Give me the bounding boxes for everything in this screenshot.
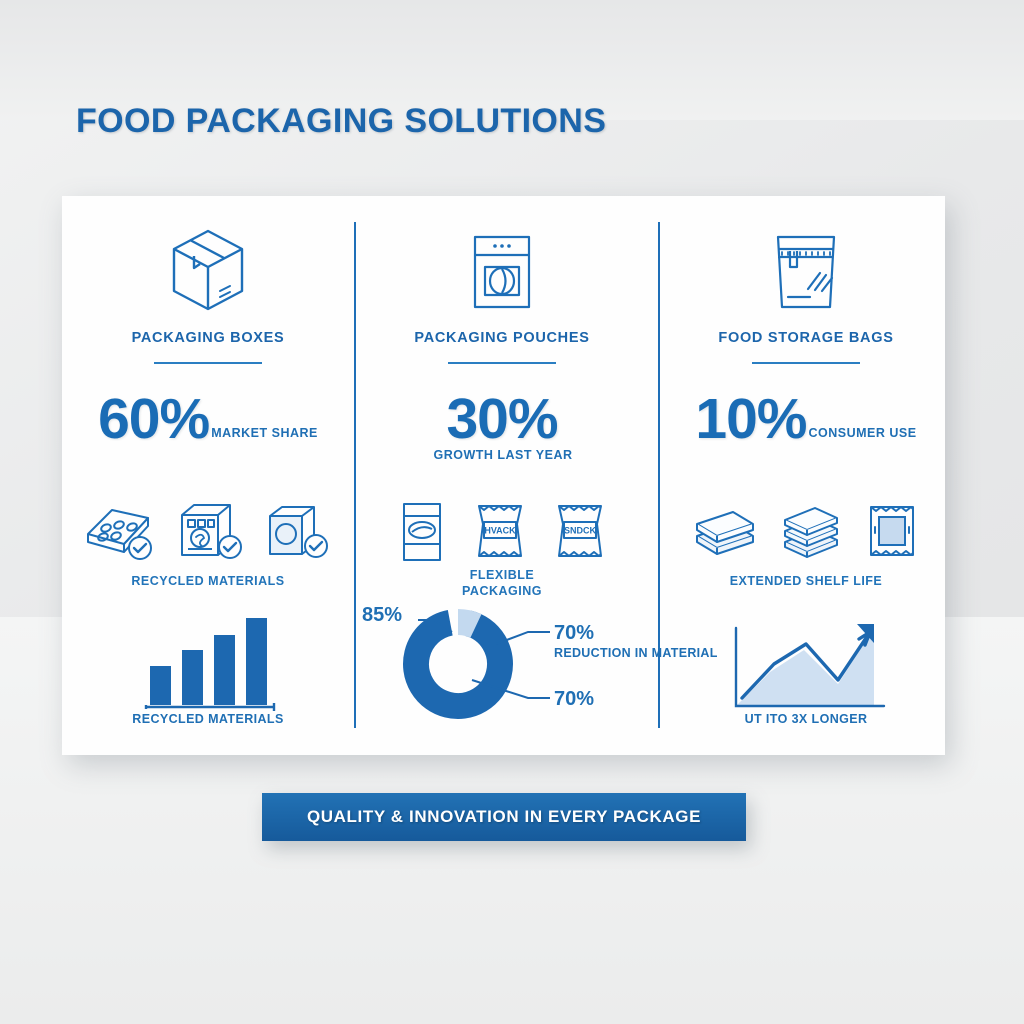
zip-storage-bag-icon: [660, 222, 952, 318]
coffee-pouch-icon: [356, 222, 648, 318]
stat-bags: 10% CONSUMER USE: [660, 392, 952, 446]
stat-boxes: 60% MARKET SHARE: [62, 392, 354, 446]
feature-icons-boxes: [62, 492, 354, 570]
infographic-card: PACKAGING BOXES 60% MARKET SHARE: [62, 196, 945, 755]
cardboard-box-icon: [62, 222, 354, 318]
feature-label-pouches: FLEXIBLEPACKAGING: [356, 568, 648, 599]
line-chart-bags: UT ITO 3X LONGER: [660, 610, 952, 728]
egg-carton-icon: [82, 500, 158, 562]
page-title: FOOD PACKAGING SOLUTIONS: [76, 102, 606, 141]
donut-label-left: 85%: [362, 604, 402, 627]
snack-bag-sndck-icon: SNDCK: [550, 498, 610, 564]
column-heading-pouches: PACKAGING POUCHES: [356, 330, 648, 346]
column-packaging-pouches: PACKAGING POUCHES 30% GROWTH LAST YEAR: [356, 196, 648, 755]
footer-banner: QUALITY & INNOVATION IN EVERY PACKAGE: [262, 793, 746, 841]
coffee-bag-icon: [394, 498, 450, 564]
column-heading-boxes: PACKAGING BOXES: [62, 330, 354, 346]
bar-chart-boxes: RECYCLED MATERIALS: [62, 610, 354, 728]
bar-chart-caption: RECYCLED MATERIALS: [62, 712, 354, 726]
snack-bag-label: HVACK: [484, 526, 516, 536]
column-heading-rule: [154, 362, 262, 364]
stat-caption-boxes: MARKET SHARE: [209, 426, 318, 446]
stat-number-boxes: 60%: [98, 392, 209, 446]
donut-label-right-percent: 70%: [554, 622, 594, 645]
column-food-storage-bags: FOOD STORAGE BAGS 10% CONSUMER USE: [660, 196, 952, 755]
cereal-box-icon: [174, 499, 246, 563]
feature-label-bags: EXTENDED SHELF LIFE: [660, 574, 952, 590]
vacuum-pack-icon: [863, 499, 921, 563]
stat-caption-pouches: GROWTH LAST YEAR: [431, 446, 572, 462]
food-carton-icon: [262, 500, 334, 562]
column-heading-rule: [448, 362, 556, 364]
column-heading-bags: FOOD STORAGE BAGS: [660, 330, 952, 346]
footer-banner-text: QUALITY & INNOVATION IN EVERY PACKAGE: [307, 807, 701, 827]
feature-icons-bags: [660, 492, 952, 570]
feature-label-boxes: RECYCLED MATERIALS: [62, 574, 354, 590]
snack-bag-hvack-icon: HVACK: [470, 498, 530, 564]
column-packaging-boxes: PACKAGING BOXES 60% MARKET SHARE: [62, 196, 354, 755]
stat-caption-bags: CONSUMER USE: [807, 426, 917, 446]
donut-label-bottom: 70%: [554, 688, 594, 711]
stacked-bags-icon: [691, 502, 759, 560]
donut-chart-pouches: 85% 70% REDUCTION IN MATERIAL 70%: [356, 600, 648, 728]
line-chart-caption: UT ITO 3X LONGER: [660, 712, 952, 726]
stat-number-bags: 10%: [695, 392, 806, 446]
stat-pouches: 30% GROWTH LAST YEAR: [356, 392, 648, 462]
feature-icons-pouches: HVACK SNDCK: [356, 492, 648, 570]
column-heading-rule: [752, 362, 860, 364]
stacked-slices-icon: [777, 502, 845, 560]
snack-bag-label: SNDCK: [564, 526, 597, 536]
stat-number-pouches: 30%: [446, 392, 557, 446]
